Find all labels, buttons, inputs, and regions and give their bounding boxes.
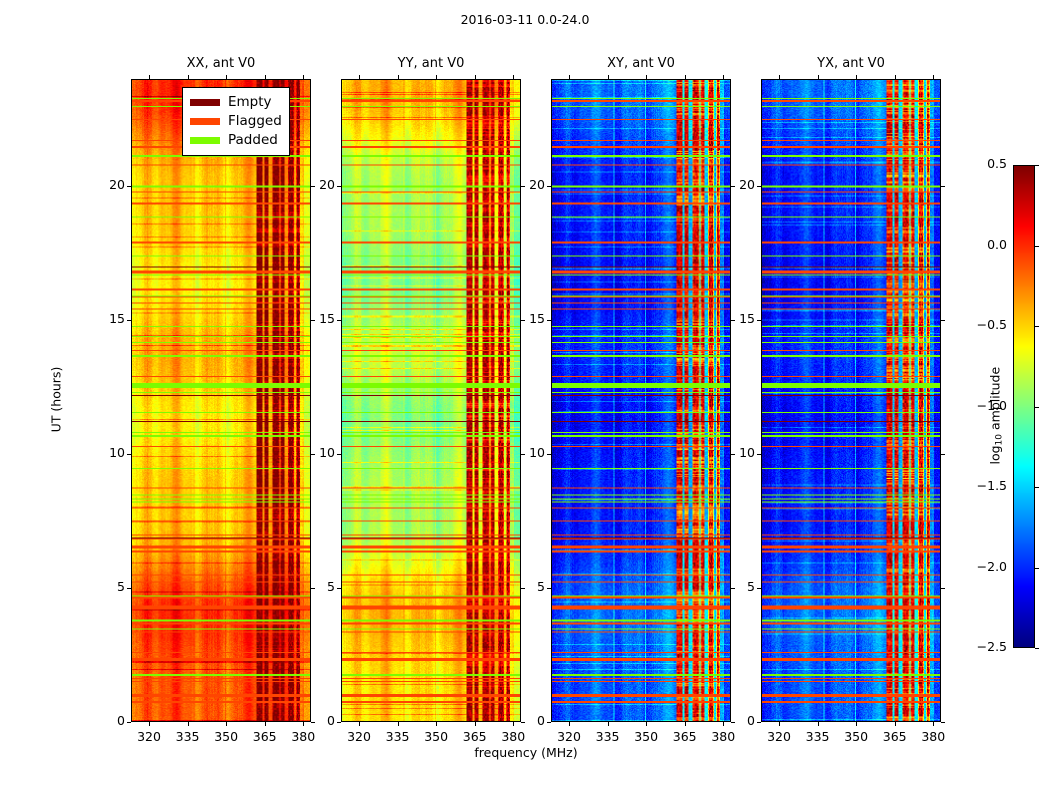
y-tick-label-yx-4: 20 <box>699 177 755 192</box>
panel-title-xy: XY, ant V0 <box>551 56 731 71</box>
y-tick-label-xx-3: 15 <box>69 311 125 326</box>
x-tickmark-top-xy-2 <box>646 75 647 79</box>
x-tickmark-xx-0 <box>149 722 150 726</box>
y-tickmark-yx-4 <box>757 186 761 187</box>
x-tickmark-top-xy-1 <box>608 75 609 79</box>
x-tick-label-xx-4: 380 <box>273 729 333 744</box>
figure-canvas: 2016-03-11 0.0-24.0 XX, ant V0 YY, ant V… <box>0 0 1050 800</box>
colorbar-tick-label-0: 0.5 <box>953 156 1007 171</box>
x-tickmark-top-yx-0 <box>779 75 780 79</box>
y-tick-label-yx-3: 15 <box>699 311 755 326</box>
colorbar-tick-label-6: −2.5 <box>953 639 1007 654</box>
y-tickmark-xx-3 <box>127 320 131 321</box>
x-tickmark-yy-1 <box>398 722 399 726</box>
colorbar-label: log10 amplitude <box>972 334 1019 514</box>
y-tickmark-xx-2 <box>127 454 131 455</box>
x-tickmark-xx-2 <box>226 722 227 726</box>
x-tickmark-top-yy-4 <box>513 75 514 79</box>
legend-item-padded: Padded <box>190 131 282 150</box>
y-tickmark-xy-1 <box>547 588 551 589</box>
y-tick-label-xy-1: 5 <box>489 579 545 594</box>
y-tick-label-yy-3: 15 <box>279 311 335 326</box>
colorbar-tickmark-0 <box>1035 165 1039 166</box>
x-tickmark-top-yy-1 <box>398 75 399 79</box>
colorbar-label-subscript: 10 <box>995 434 1005 445</box>
x-tickmark-yx-4 <box>933 722 934 726</box>
y-tickmark-yy-1 <box>337 588 341 589</box>
colorbar-tickmark-3 <box>1035 407 1039 408</box>
x-tickmark-yx-1 <box>818 722 819 726</box>
y-tickmark-yx-0 <box>757 722 761 723</box>
x-tickmark-xx-3 <box>265 722 266 726</box>
y-tickmark-right-yx-2 <box>941 454 945 455</box>
y-tick-label-yy-4: 20 <box>279 177 335 192</box>
x-tickmark-top-yx-2 <box>856 75 857 79</box>
y-tick-label-xy-2: 10 <box>489 445 545 460</box>
legend-swatch-flagged <box>190 118 220 125</box>
y-tickmark-xx-1 <box>127 588 131 589</box>
x-tickmark-top-yy-0 <box>359 75 360 79</box>
colorbar-tickmark-2 <box>1035 326 1039 327</box>
y-tick-label-yx-2: 10 <box>699 445 755 460</box>
y-tickmark-right-yx-0 <box>941 722 945 723</box>
legend-swatch-padded <box>190 137 220 144</box>
y-tickmark-xy-4 <box>547 186 551 187</box>
legend-label-empty: Empty <box>228 96 272 110</box>
x-tickmark-xy-1 <box>608 722 609 726</box>
y-tickmark-yx-2 <box>757 454 761 455</box>
x-tickmark-xy-2 <box>646 722 647 726</box>
panel-title-yx: YX, ant V0 <box>761 56 941 71</box>
x-axis-label: frequency (MHz) <box>436 745 616 760</box>
x-tickmark-top-xx-1 <box>188 75 189 79</box>
y-tick-label-xy-4: 20 <box>489 177 545 192</box>
waterfall-image-yx <box>762 80 940 721</box>
colorbar-tick-label-1: 0.0 <box>953 237 1007 252</box>
y-tickmark-xx-4 <box>127 186 131 187</box>
figure-suptitle: 2016-03-11 0.0-24.0 <box>0 12 1050 27</box>
x-tickmark-xy-3 <box>685 722 686 726</box>
colorbar-label-suffix: amplitude <box>987 367 1002 434</box>
x-tickmark-top-xy-4 <box>723 75 724 79</box>
y-tick-label-xy-3: 15 <box>489 311 545 326</box>
y-tickmark-xy-0 <box>547 722 551 723</box>
panel-title-yy: YY, ant V0 <box>341 56 521 71</box>
y-tickmark-yy-4 <box>337 186 341 187</box>
panel-title-xx: XX, ant V0 <box>131 56 311 71</box>
x-tickmark-top-yx-1 <box>818 75 819 79</box>
x-tickmark-top-xy-0 <box>569 75 570 79</box>
x-tickmark-top-yy-2 <box>436 75 437 79</box>
x-tickmark-top-yx-3 <box>895 75 896 79</box>
x-tickmark-yx-2 <box>856 722 857 726</box>
legend-swatch-empty <box>190 99 220 106</box>
colorbar-tickmark-5 <box>1035 568 1039 569</box>
y-tickmark-yy-2 <box>337 454 341 455</box>
legend-label-flagged: Flagged <box>228 115 282 129</box>
colorbar-tickmark-6 <box>1035 648 1039 649</box>
y-tick-label-xx-4: 20 <box>69 177 125 192</box>
colorbar-tickmark-4 <box>1035 487 1039 488</box>
y-tickmark-xx-0 <box>127 722 131 723</box>
x-tickmark-yy-2 <box>436 722 437 726</box>
x-tickmark-yy-3 <box>475 722 476 726</box>
waterfall-image-yy <box>342 80 520 721</box>
colorbar-tickmark-1 <box>1035 246 1039 247</box>
legend-item-empty: Empty <box>190 93 282 112</box>
y-tick-label-yx-1: 5 <box>699 579 755 594</box>
y-tickmark-xy-2 <box>547 454 551 455</box>
colorbar-tick-label-5: −2.0 <box>953 559 1007 574</box>
x-tickmark-yy-0 <box>359 722 360 726</box>
x-tick-label-xy-4: 380 <box>693 729 753 744</box>
x-tickmark-top-xx-4 <box>303 75 304 79</box>
waterfall-image-xx <box>132 80 310 721</box>
flag-legend[interactable]: Empty Flagged Padded <box>182 87 290 156</box>
y-tickmark-yx-1 <box>757 588 761 589</box>
waterfall-image-xy <box>552 80 730 721</box>
waterfall-panel-xx[interactable] <box>131 79 311 722</box>
y-tick-label-xx-2: 10 <box>69 445 125 460</box>
y-tickmark-right-yx-1 <box>941 588 945 589</box>
x-tickmark-yx-3 <box>895 722 896 726</box>
x-tickmark-top-xx-3 <box>265 75 266 79</box>
waterfall-panel-yx[interactable] <box>761 79 941 722</box>
y-tick-label-xx-1: 5 <box>69 579 125 594</box>
colorbar-tick-label-2: −0.5 <box>953 317 1007 332</box>
y-tickmark-yx-3 <box>757 320 761 321</box>
x-tick-label-yx-4: 380 <box>903 729 963 744</box>
y-tick-label-yy-1: 5 <box>279 579 335 594</box>
y-tickmark-yy-0 <box>337 722 341 723</box>
x-tickmark-top-xy-3 <box>685 75 686 79</box>
y-tickmark-right-yx-4 <box>941 186 945 187</box>
waterfall-panel-yy[interactable] <box>341 79 521 722</box>
y-tickmark-yy-3 <box>337 320 341 321</box>
x-tickmark-top-yy-3 <box>475 75 476 79</box>
x-tickmark-top-yx-4 <box>933 75 934 79</box>
legend-item-flagged: Flagged <box>190 112 282 131</box>
x-tick-label-yy-4: 380 <box>483 729 543 744</box>
legend-label-padded: Padded <box>228 134 278 148</box>
y-tickmark-xy-3 <box>547 320 551 321</box>
y-tick-label-yy-2: 10 <box>279 445 335 460</box>
y-tick-label-xy-0: 0 <box>489 713 545 728</box>
y-axis-label: UT (hours) <box>49 340 64 460</box>
x-tickmark-top-xx-2 <box>226 75 227 79</box>
y-tick-label-yy-0: 0 <box>279 713 335 728</box>
x-tickmark-xx-1 <box>188 722 189 726</box>
x-tickmark-top-xx-0 <box>149 75 150 79</box>
y-tick-label-yx-0: 0 <box>699 713 755 728</box>
waterfall-panel-xy[interactable] <box>551 79 731 722</box>
x-tickmark-xy-0 <box>569 722 570 726</box>
colorbar-label-prefix: log <box>987 445 1002 464</box>
y-tickmark-right-yx-3 <box>941 320 945 321</box>
y-tick-label-xx-0: 0 <box>69 713 125 728</box>
x-tickmark-yx-0 <box>779 722 780 726</box>
